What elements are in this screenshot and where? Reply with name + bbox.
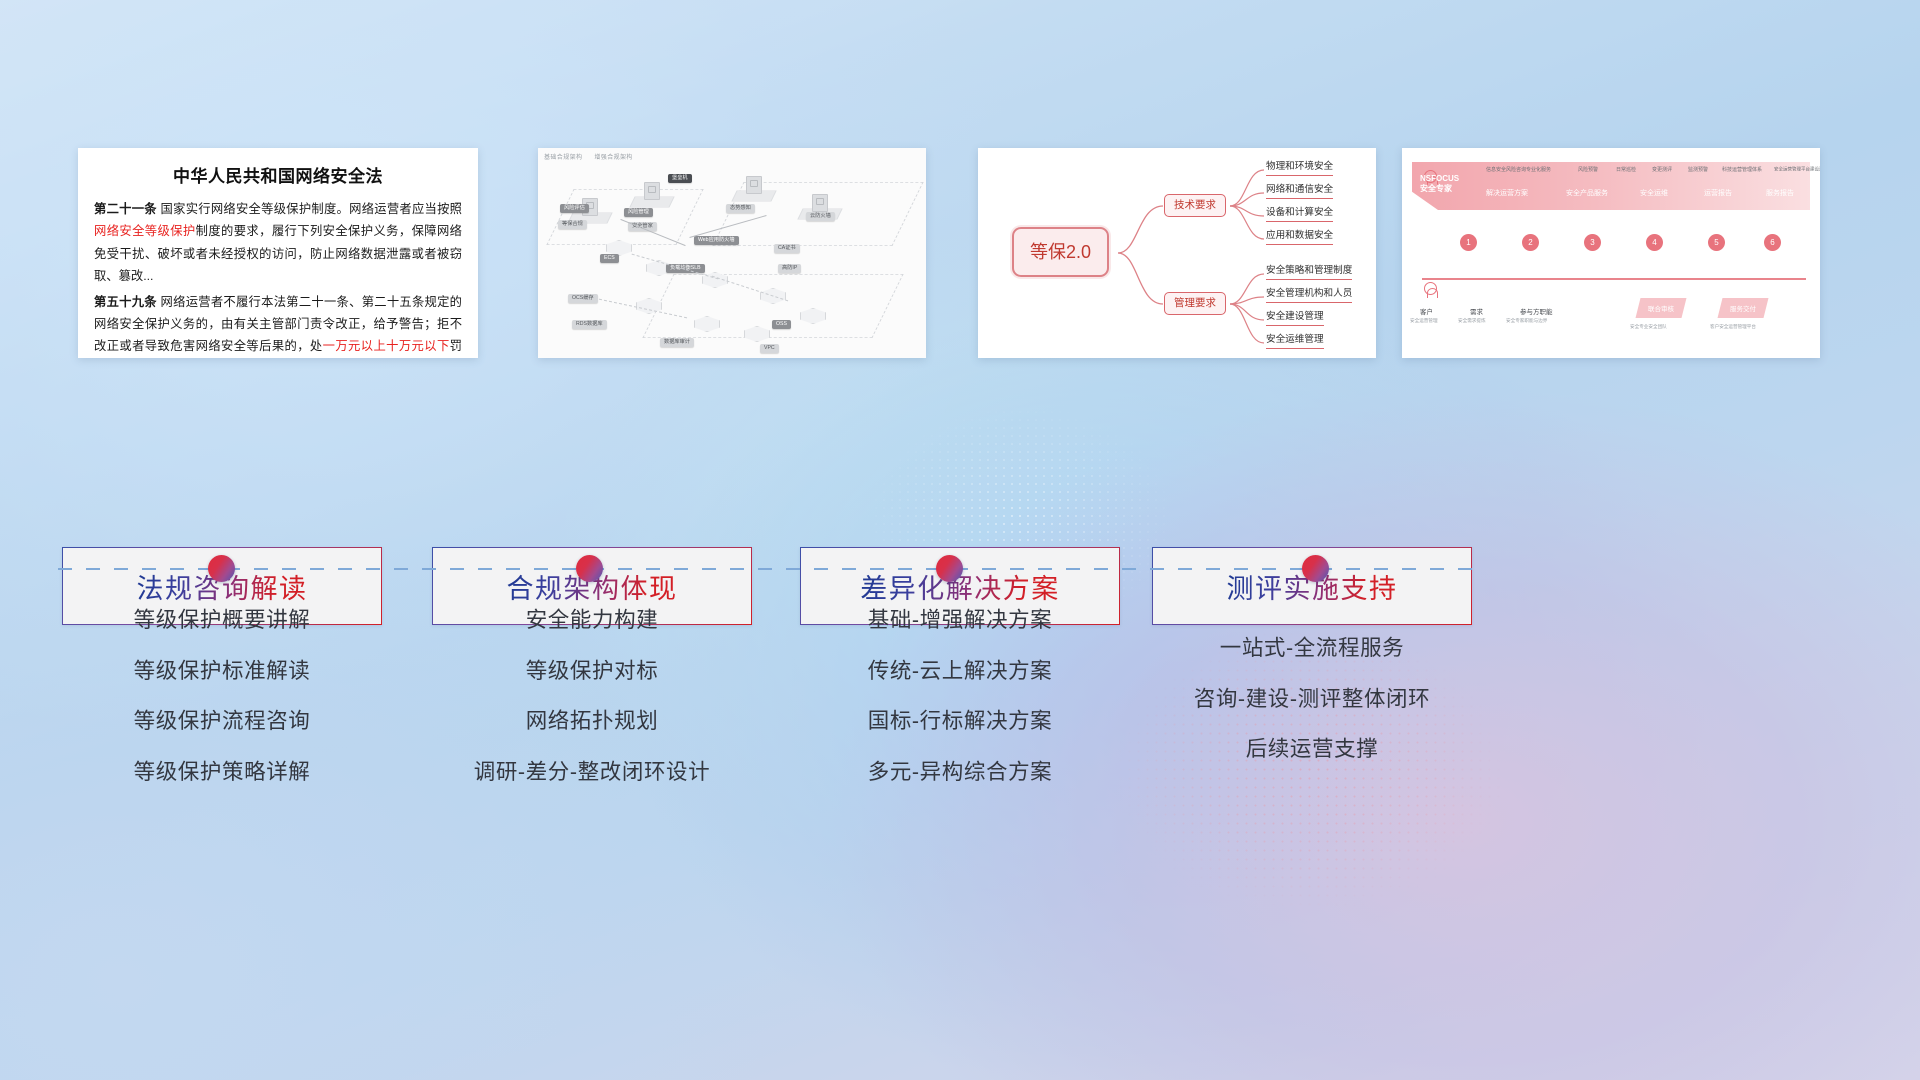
list-item: 咨询-建设-测评整体闭环 — [1152, 689, 1472, 711]
list-item: 等级保护标准解读 — [62, 661, 382, 683]
detail-column-1: 等级保护概要讲解 等级保护标准解读 等级保护流程咨询 等级保护策略详解 — [62, 610, 382, 812]
list-item: 多元-异构综合方案 — [800, 762, 1120, 784]
detail-column-3: 基础-增强解决方案 传统-云上解决方案 国标-行标解决方案 多元-异构综合方案 — [800, 610, 1120, 812]
timeline-dot-1[interactable] — [208, 555, 235, 582]
timeline — [58, 568, 1478, 570]
list-item: 国标-行标解决方案 — [800, 711, 1120, 733]
list-item: 等级保护策略详解 — [62, 762, 382, 784]
list-item: 网络拓扑规划 — [432, 711, 752, 733]
list-item: 等级保护概要讲解 — [62, 610, 382, 632]
list-item: 安全能力构建 — [432, 610, 752, 632]
section-heading-row: 法规咨询解读 合规架构体现 差异化解决方案 测评实施支持 — [0, 0, 1920, 1080]
timeline-dashed-line — [58, 568, 1478, 570]
detail-column-2: 安全能力构建 等级保护对标 网络拓扑规划 调研-差分-整改闭环设计 — [432, 610, 752, 812]
list-item: 等级保护对标 — [432, 661, 752, 683]
detail-column-4: 一站式-全流程服务 咨询-建设-测评整体闭环 后续运营支撑 — [1152, 638, 1472, 790]
list-item: 后续运营支撑 — [1152, 739, 1472, 761]
list-item: 传统-云上解决方案 — [800, 661, 1120, 683]
list-item: 调研-差分-整改闭环设计 — [432, 762, 752, 784]
list-item: 基础-增强解决方案 — [800, 610, 1120, 632]
timeline-dot-3[interactable] — [936, 555, 963, 582]
timeline-dot-2[interactable] — [576, 555, 603, 582]
list-item: 一站式-全流程服务 — [1152, 638, 1472, 660]
timeline-dot-4[interactable] — [1302, 555, 1329, 582]
list-item: 等级保护流程咨询 — [62, 711, 382, 733]
